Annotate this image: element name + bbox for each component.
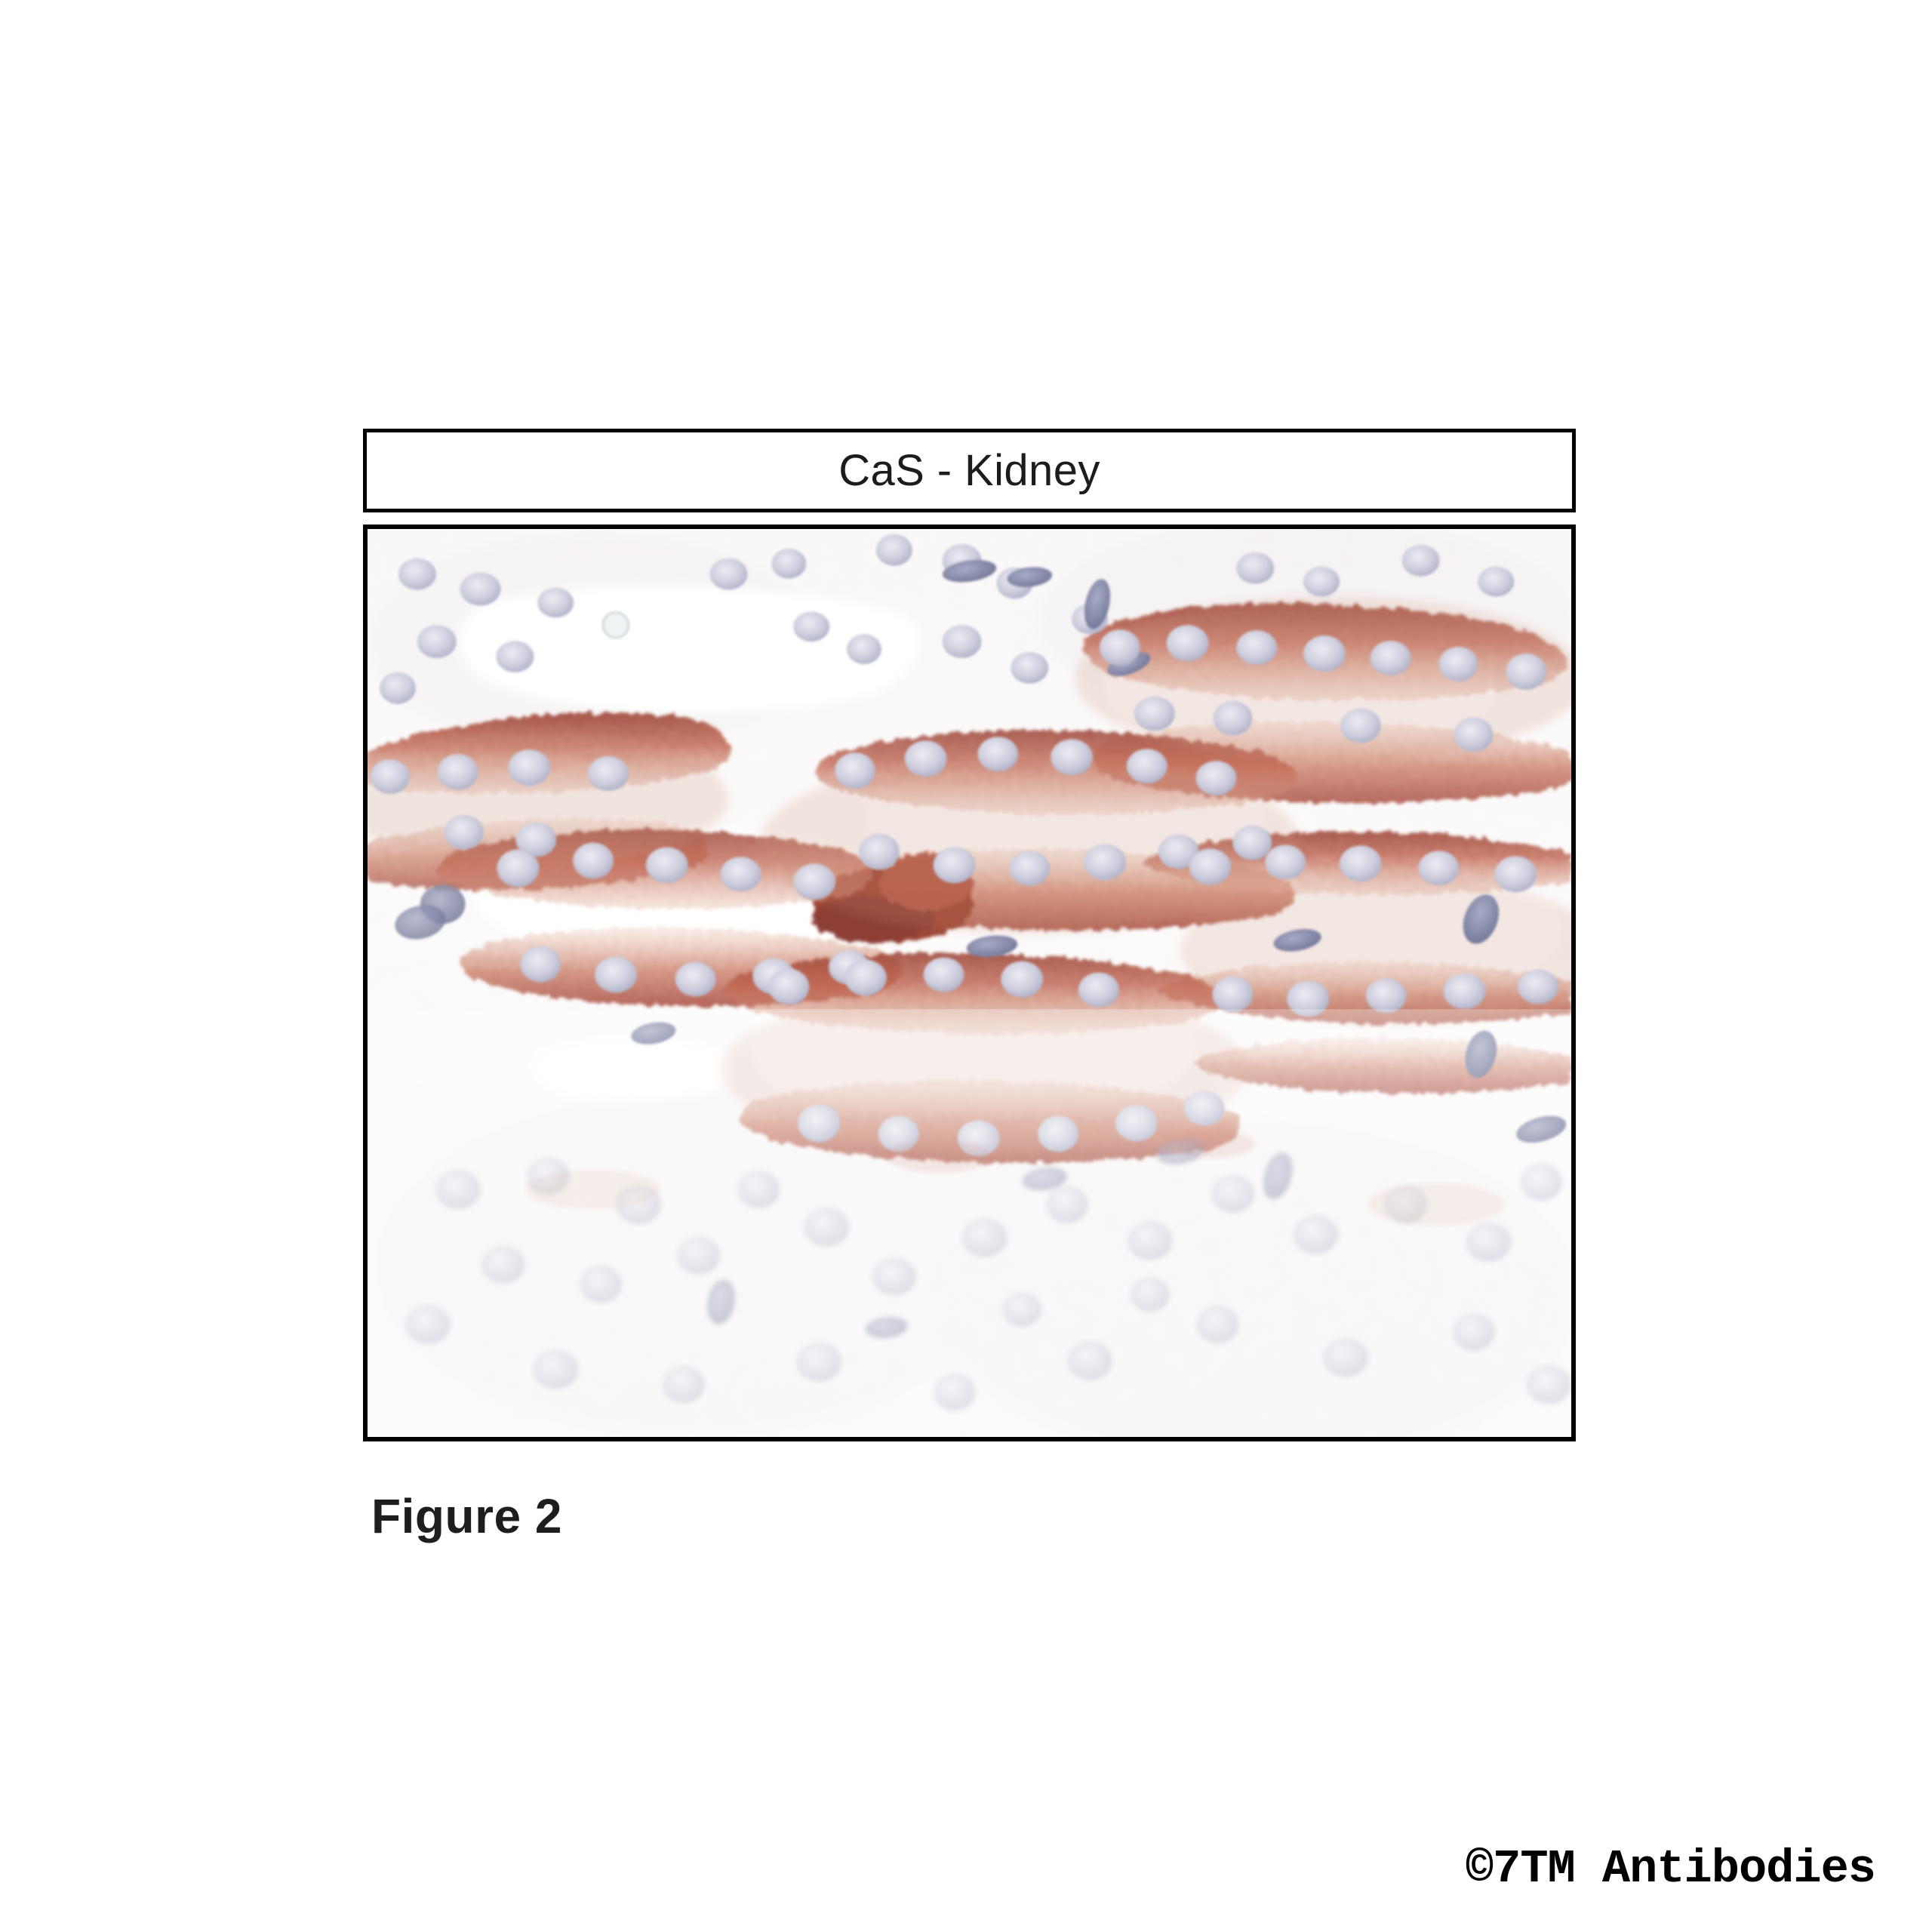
ihc-micrograph-image <box>368 529 1571 1437</box>
copyright-notice: ©7TM Antibodies <box>1466 1844 1875 1894</box>
panel-title-box: CaS - Kidney <box>363 429 1576 512</box>
micrograph-panel <box>363 525 1576 1441</box>
figure-root: CaS - Kidney <box>0 0 1932 1932</box>
panel-title-text: CaS - Kidney <box>838 449 1100 493</box>
figure-caption: Figure 2 <box>371 1491 562 1542</box>
